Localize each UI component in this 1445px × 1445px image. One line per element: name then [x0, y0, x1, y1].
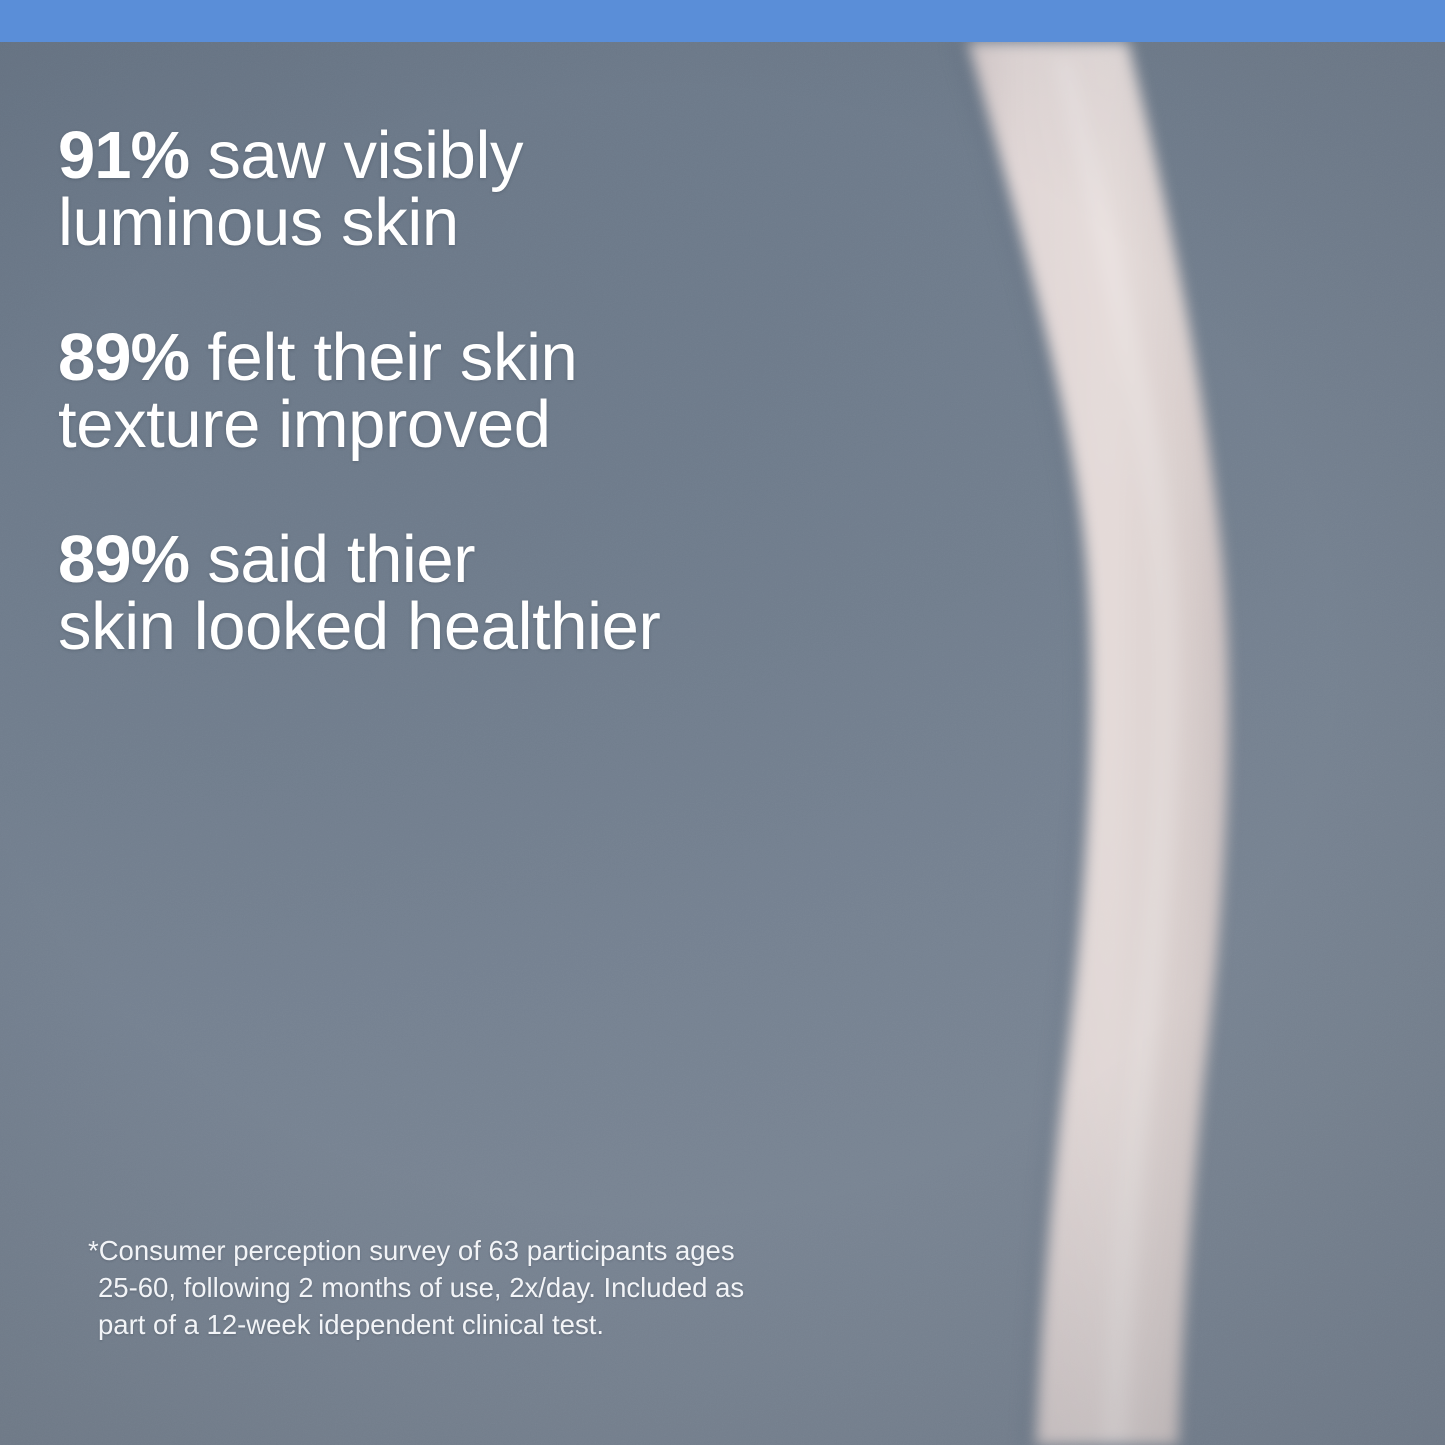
- footnote-line-2: 25-60, following 2 months of use, 2x/day…: [88, 1269, 988, 1306]
- claim-item: 91% saw visibly luminous skin: [58, 122, 888, 256]
- claims-image: 91% saw visibly luminous skin 89% felt t…: [0, 0, 1445, 1445]
- footnote-line-3: part of a 12-week idependent clinical te…: [88, 1306, 988, 1343]
- claim-line-2: texture improved: [58, 391, 888, 458]
- claims-list: 91% saw visibly luminous skin 89% felt t…: [58, 122, 888, 660]
- claim-text-part: saw visibly: [189, 118, 523, 193]
- claim-percent: 89%: [58, 522, 189, 597]
- claim-line-2: luminous skin: [58, 189, 888, 256]
- claim-line-1: 89% said thier: [58, 526, 888, 593]
- claim-line-1: 91% saw visibly: [58, 122, 888, 189]
- claim-item: 89% felt their skin texture improved: [58, 324, 888, 458]
- claim-text-part: said thier: [189, 522, 475, 597]
- claim-item: 89% said thier skin looked healthier: [58, 526, 888, 660]
- claim-percent: 91%: [58, 118, 189, 193]
- claim-percent: 89%: [58, 320, 189, 395]
- claim-text-part: felt their skin: [189, 320, 577, 395]
- footnote-line-1: *Consumer perception survey of 63 partic…: [88, 1232, 988, 1269]
- claim-line-2: skin looked healthier: [58, 593, 888, 660]
- top-accent-bar: [0, 0, 1445, 42]
- footnote-disclaimer: *Consumer perception survey of 63 partic…: [88, 1232, 988, 1343]
- claim-line-1: 89% felt their skin: [58, 324, 888, 391]
